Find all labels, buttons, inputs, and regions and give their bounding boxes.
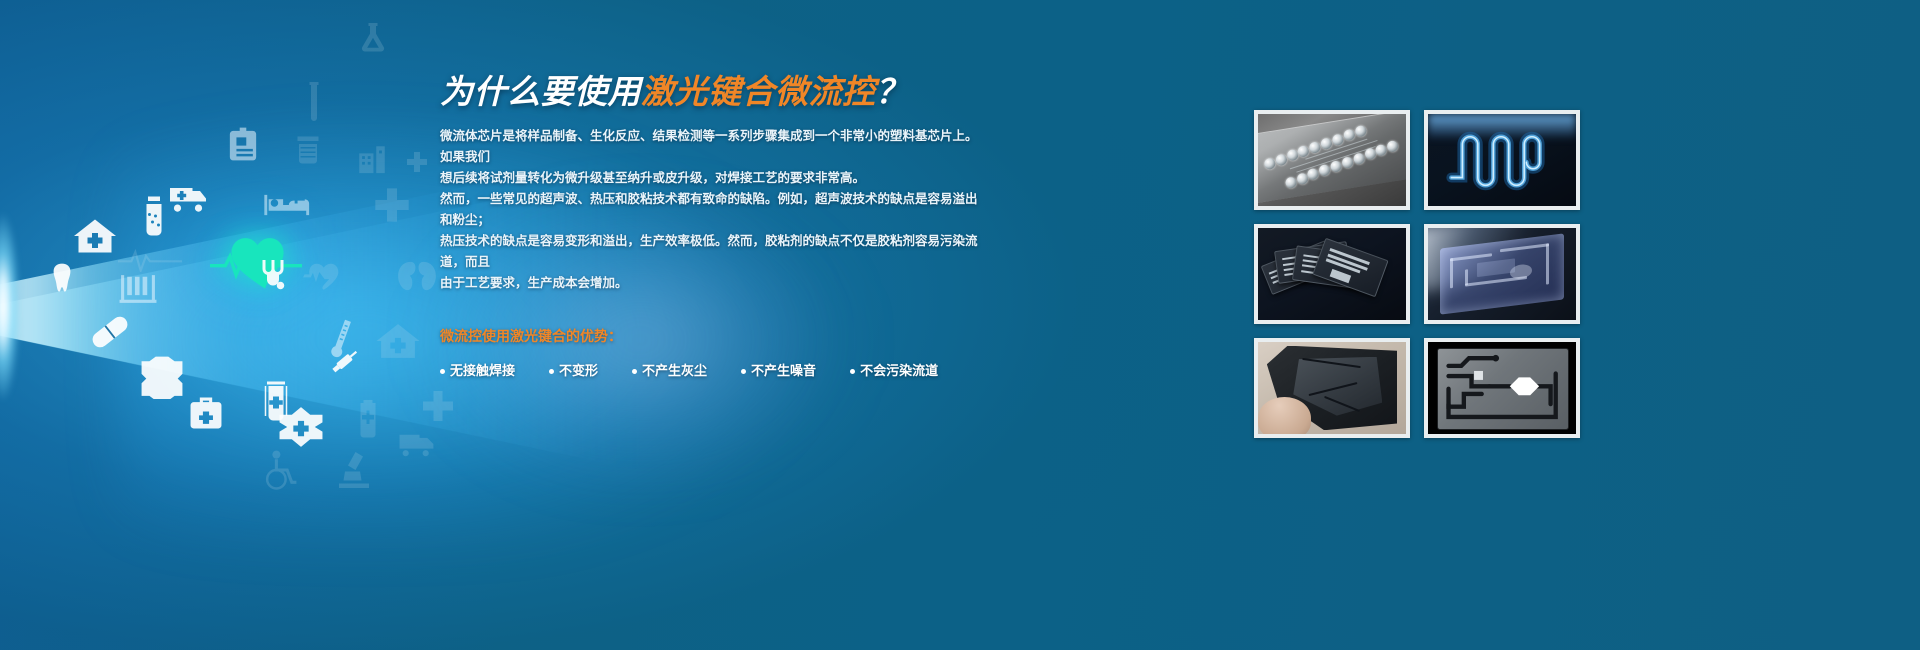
list-item: 无接触焊接 [440,362,515,380]
gallery-thumb-grey-chip-with-lens-chamber[interactable] [1424,338,1580,438]
bullet-dot-icon [440,369,445,374]
grey-chip-with-lens-chamber-image [1428,342,1576,434]
paragraph-line: 然而，一些常见的超声波、热压和胶粘技术都有致命的缺陷。例如，超声波技术的缺点是容… [440,189,980,231]
promo-banner: 为什么要使用激光键合微流控？ 微流体芯片是将样品制备、生化反应、结果检测等一系列… [0,0,1920,650]
list-item: 不会污染流道 [850,362,938,380]
cartridge-body [1440,233,1564,314]
list-item-label: 不会污染流道 [860,362,938,380]
gallery-thumb-serpentine-channel-blue-glow-chip[interactable] [1424,110,1580,210]
fan-of-dark-microfluidic-chips-image [1258,228,1406,320]
heart-pulse-icon [210,232,302,304]
list-item-label: 不产生灰尘 [642,362,707,380]
list-item-label: 不产生噪音 [751,362,816,380]
intro-paragraph: 微流体芯片是将样品制备、生化反应、结果检测等一系列步骤集成到一个非常小的塑料基芯… [440,126,980,294]
flask-icon [355,18,391,58]
paragraph-line: 微流体芯片是将样品制备、生化反应、结果检测等一系列步骤集成到一个非常小的塑料基芯… [440,126,980,168]
list-item-label: 不变形 [559,362,598,380]
title-lead: 为什么要使用 [440,73,641,110]
product-image-gallery [1254,110,1580,438]
transparent-microfluidic-chip-well-array-image [1258,114,1406,206]
title-accent: 激光键合微流控 [641,73,876,110]
serpentine-channel-blue-glow-chip-image [1428,114,1576,206]
gallery-thumb-fan-of-dark-microfluidic-chips[interactable] [1254,224,1410,324]
serpentine-channel-path [1437,129,1567,195]
paragraph-line: 想后续将试剂量转化为微升级甚至纳升或皮升级，对焊接工艺的要求非常高。 [440,168,980,189]
blue-transparent-cartridge-image [1428,228,1576,320]
list-item: 不产生噪音 [741,362,816,380]
list-item: 不变形 [549,362,598,380]
gallery-thumb-transparent-microfluidic-chip-well-array[interactable] [1254,110,1410,210]
list-item-label: 无接触焊接 [450,362,515,380]
gallery-thumb-blue-transparent-cartridge[interactable] [1424,224,1580,324]
hand-holding-black-microfluidic-part-image [1258,342,1406,434]
bullet-dot-icon [549,369,554,374]
bullet-dot-icon [632,369,637,374]
home-cross-icon [72,218,118,254]
bullet-dot-icon [850,369,855,374]
page-title: 为什么要使用激光键合微流控？ [440,72,980,112]
gallery-thumb-hand-holding-black-microfluidic-part[interactable] [1254,338,1410,438]
list-item: 不产生灰尘 [632,362,707,380]
bullet-dot-icon [741,369,746,374]
advantages-list: 无接触焊接 不变形 不产生灰尘 不产生噪音 不会污染流道 [440,362,980,380]
advantages-heading: 微流控使用激光键合的优势： [440,326,980,346]
text-column: 为什么要使用激光键合微流控？ 微流体芯片是将样品制备、生化反应、结果检测等一系列… [440,72,980,380]
chip-channel-network [1437,348,1567,427]
paragraph-line: 由于工艺要求，生产成本会增加。 [440,273,980,294]
finger [1258,397,1311,434]
title-tail: ？ [876,73,910,110]
paragraph-line: 热压技术的缺点是容易变形和溢出，生产效率极低。然而，胶粘剂的缺点不仅是胶粘剂容易… [440,231,980,273]
light-source-core [0,212,20,402]
